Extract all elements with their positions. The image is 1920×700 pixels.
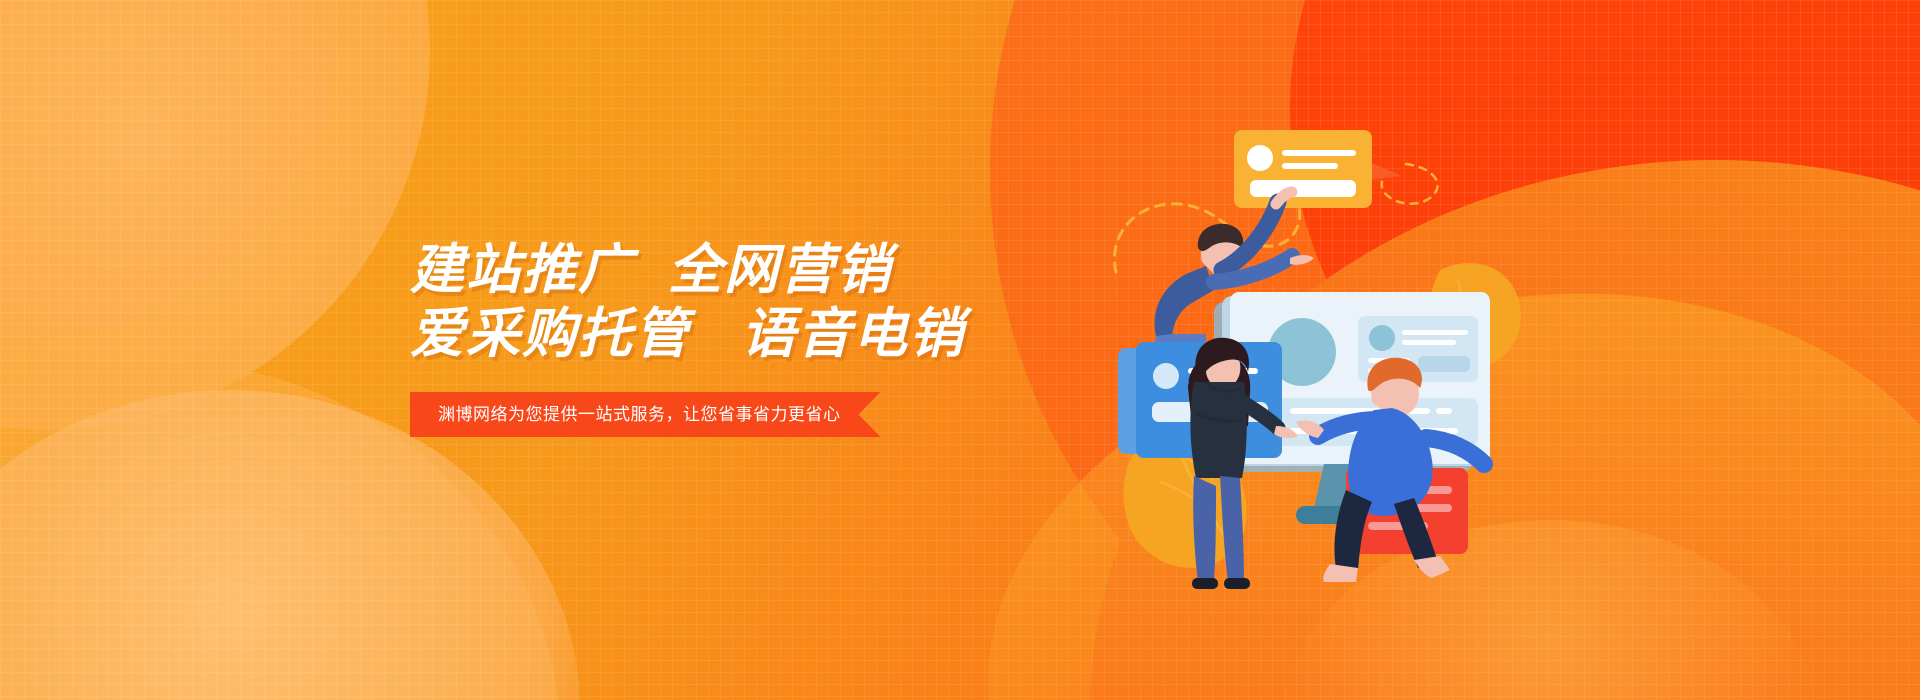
decor-dashed-arc [1382,164,1438,204]
promo-banner: 建站推广 全网营销 爱采购托管 语音电销 渊博网络为您提供一站式服务，让您省事省… [0,0,1920,700]
headline-line-2: 爱采购托管 语音电销 [410,302,1050,366]
hero-illustration [1110,120,1530,590]
headline-line-1: 建站推广 全网营销 [410,238,1050,302]
subtitle-ribbon: 渊博网络为您提供一站式服务，让您省事省力更省心 [410,392,881,437]
yellow-card [1234,130,1372,208]
copy-block: 建站推广 全网营销 爱采购托管 语音电销 渊博网络为您提供一站式服务，让您省事省… [410,238,1050,437]
